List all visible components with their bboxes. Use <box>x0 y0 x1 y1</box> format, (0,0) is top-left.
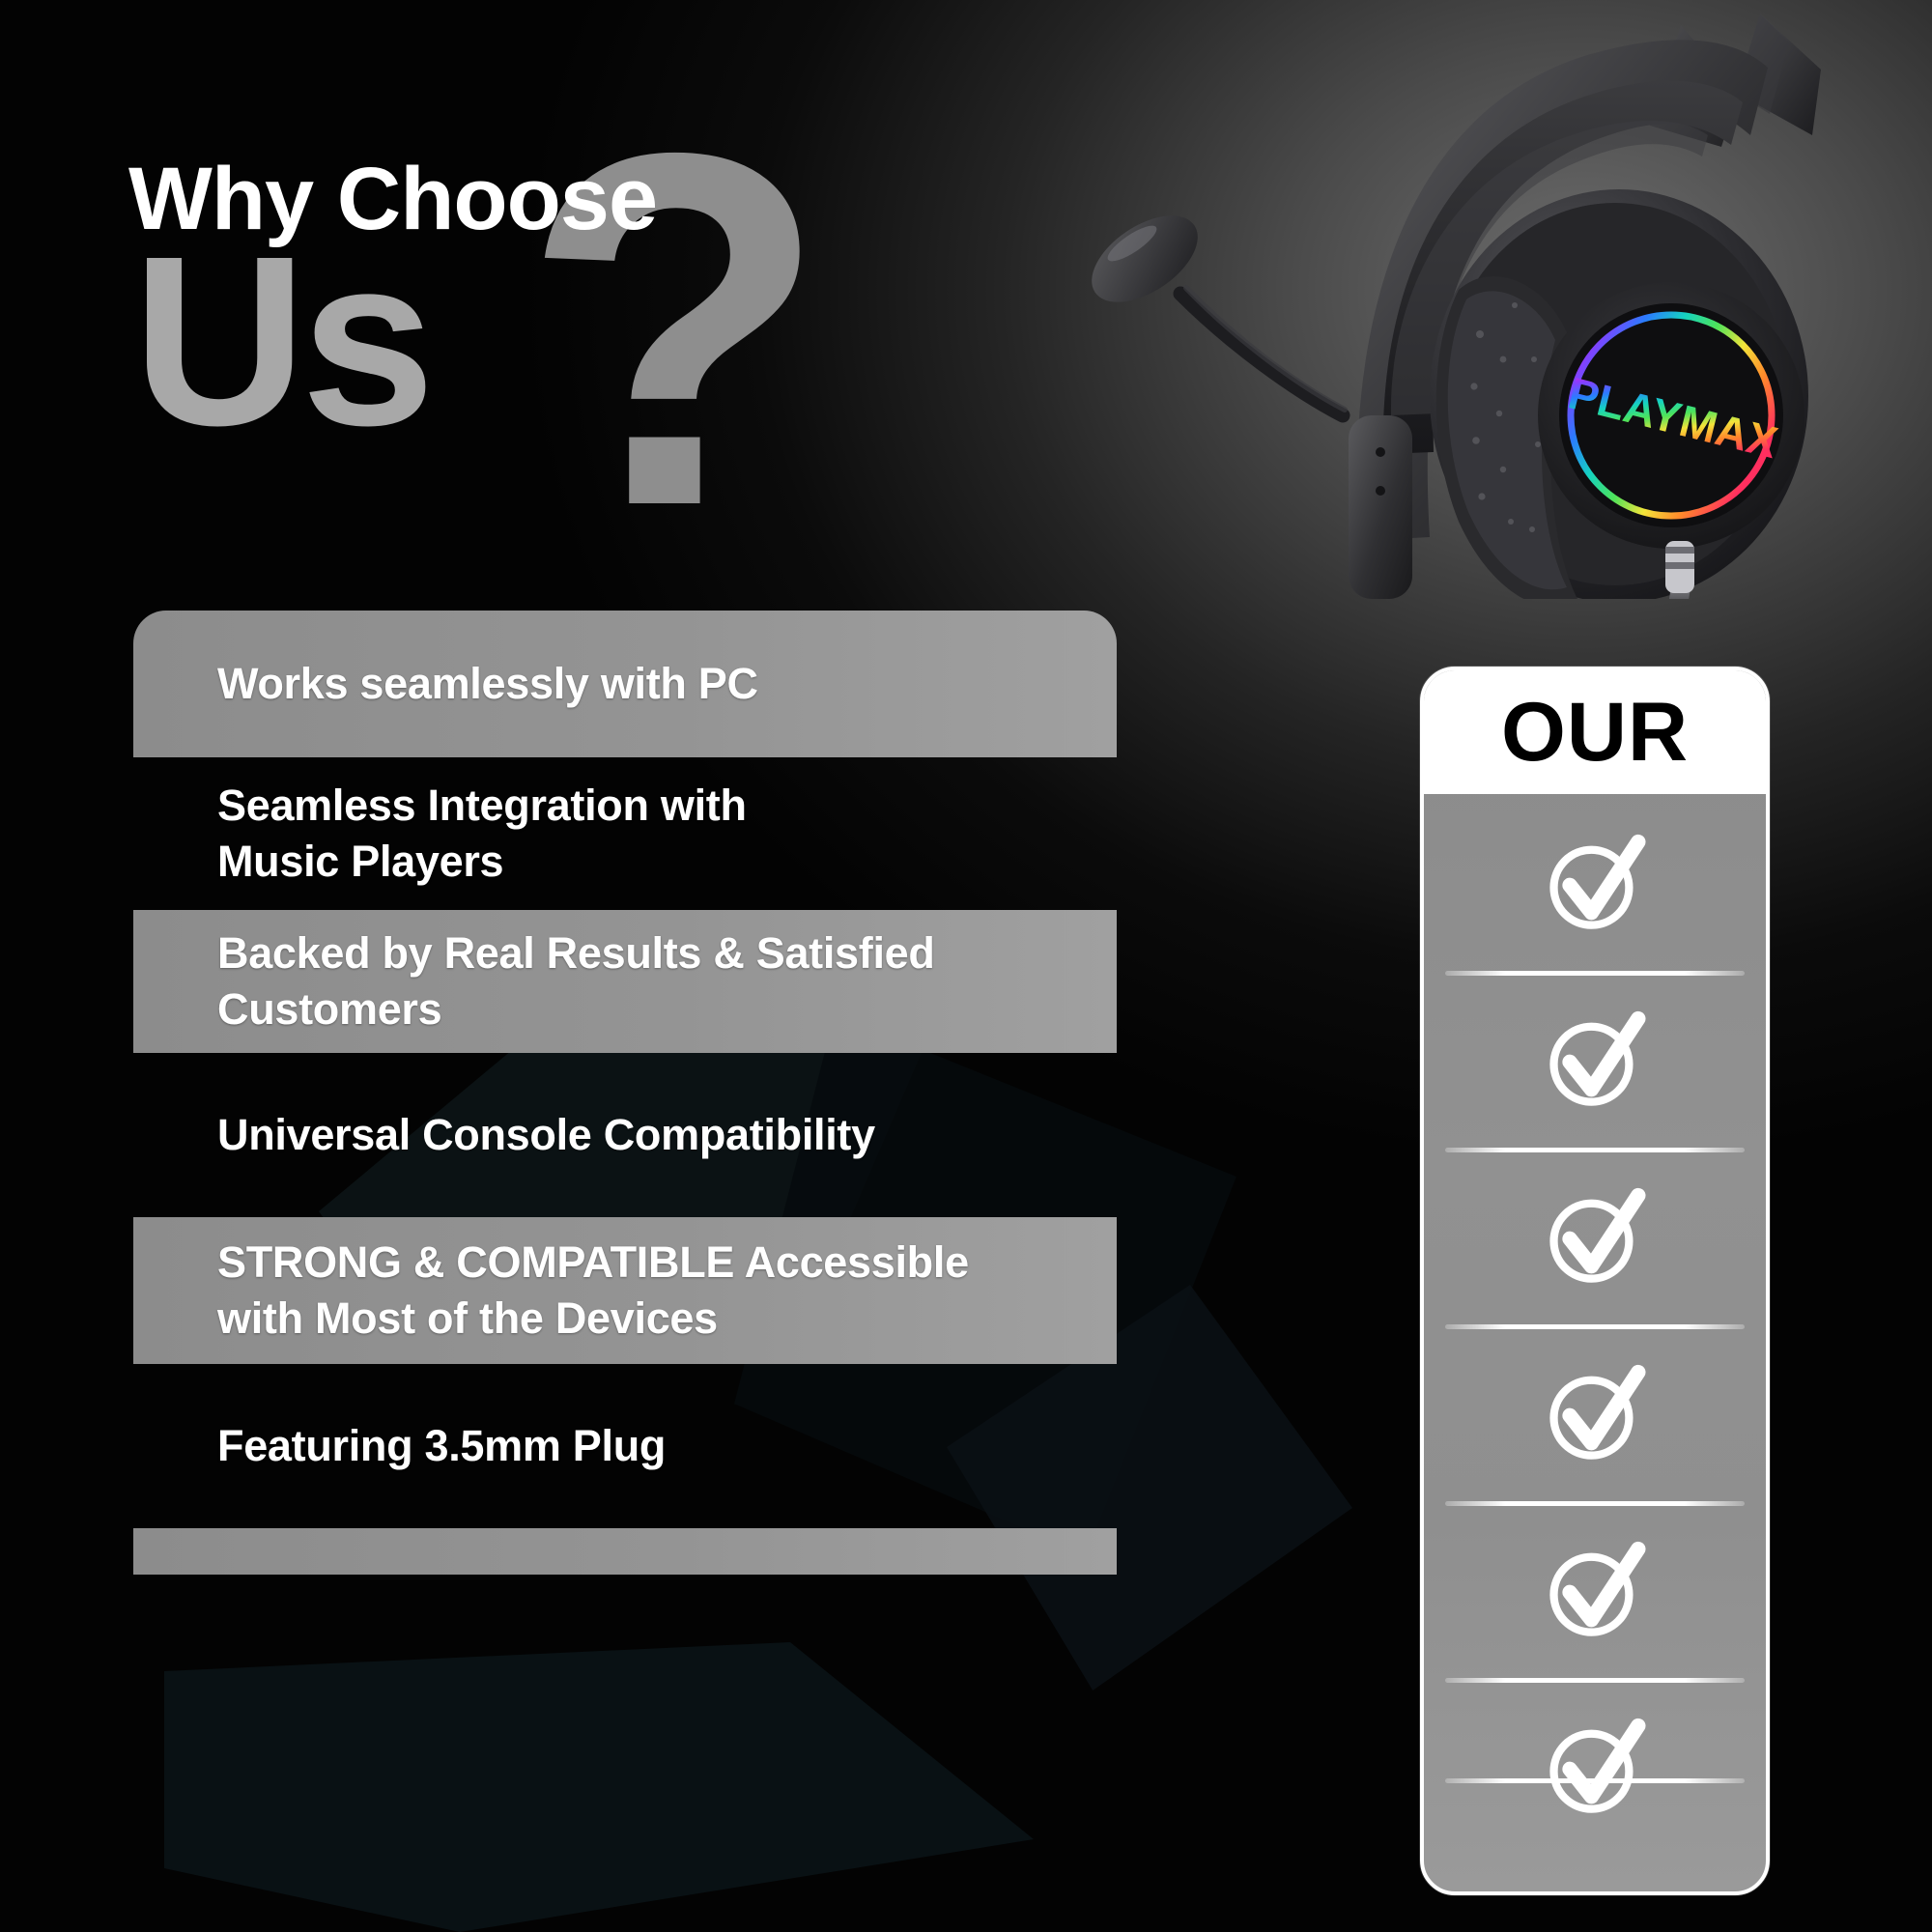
feature-text: Backed by Real Results & SatisfiedCustom… <box>133 925 964 1037</box>
check-cell <box>1424 794 1766 971</box>
check-cell <box>1424 1148 1766 1324</box>
our-column-header: OUR <box>1424 670 1766 794</box>
check-circle-icon <box>1538 826 1652 940</box>
headline-line-2: Us <box>132 230 430 452</box>
headline-line-1: Why Choose <box>128 155 959 243</box>
list-item[interactable]: Works seamlessly with PC <box>133 611 1117 757</box>
page-title: Why Choose <box>128 155 959 243</box>
check-circle-icon <box>1538 1533 1652 1647</box>
check-circle-icon <box>1538 1710 1652 1824</box>
check-circle-icon <box>1538 1179 1652 1293</box>
list-item[interactable]: Seamless Integration withMusic Players <box>133 757 1117 910</box>
poster-canvas: ? Why Choose Us <box>0 0 1932 1932</box>
check-cell <box>1424 1678 1766 1855</box>
list-item[interactable]: Backed by Real Results & SatisfiedCustom… <box>133 910 1117 1053</box>
feature-list: Works seamlessly with PC Seamless Integr… <box>133 611 1117 1868</box>
list-item[interactable]: Universal Console Compatibility <box>133 1053 1117 1217</box>
list-item[interactable]: Featuring 3.5mm Plug <box>133 1364 1117 1528</box>
check-divider <box>1445 1778 1745 1783</box>
check-circle-icon <box>1538 1003 1652 1117</box>
our-label: OUR <box>1501 691 1689 774</box>
check-cell <box>1424 1501 1766 1678</box>
our-column-panel: OUR <box>1420 667 1770 1895</box>
feature-text: Universal Console Compatibility <box>133 1107 904 1163</box>
check-cell <box>1424 971 1766 1148</box>
list-item[interactable]: STRONG & COMPATIBLE Accessiblewith Most … <box>133 1217 1117 1364</box>
check-cell <box>1424 1324 1766 1501</box>
check-circle-icon <box>1538 1356 1652 1470</box>
feature-text: STRONG & COMPATIBLE Accessiblewith Most … <box>133 1235 998 1346</box>
gaming-headset-with-cat-ears: PLAYMAX <box>1005 0 1932 599</box>
feature-text: Works seamlessly with PC <box>133 656 787 712</box>
feature-text: Featuring 3.5mm Plug <box>133 1418 695 1474</box>
feature-text: Seamless Integration withMusic Players <box>133 778 776 889</box>
list-bottom-cap <box>133 1528 1117 1575</box>
